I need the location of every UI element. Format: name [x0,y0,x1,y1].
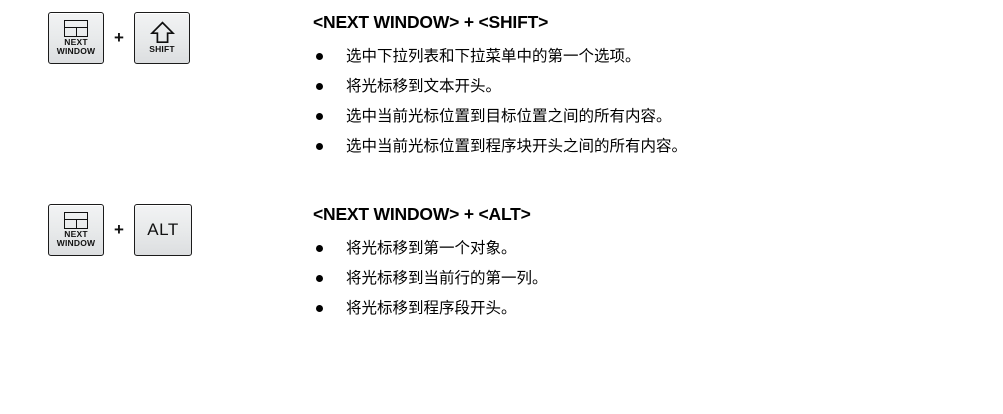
shortcut-description-shift: <NEXT WINDOW> + <SHIFT> 选中下拉列表和下拉菜单中的第一个… [313,12,978,161]
plus-separator: + [104,204,134,256]
shortcut-block-shift: NEXT WINDOW + SHIFT <NEXT WINDOW> + <SHI… [48,12,978,161]
alt-key[interactable]: ALT [134,204,192,256]
list-item-text: 选中当前光标位置到目标位置之间的所有内容。 [346,107,672,125]
list-item: 选中下拉列表和下拉菜单中的第一个选项。 [313,41,978,71]
shift-key-label: SHIFT [149,45,175,55]
list-item-text: 选中当前光标位置到程序块开头之间的所有内容。 [346,137,687,155]
list-item: 将光标移到第一个对象。 [313,233,978,263]
bullet-icon [316,83,323,90]
shift-key[interactable]: SHIFT [134,12,190,64]
list-item-text: 将光标移到第一个对象。 [346,239,517,257]
list-item: 将光标移到当前行的第一列。 [313,263,978,293]
shortcut-heading-shift: <NEXT WINDOW> + <SHIFT> [313,12,978,32]
list-item-text: 将光标移到文本开头。 [346,77,501,95]
list-item-text: 选中下拉列表和下拉菜单中的第一个选项。 [346,47,641,65]
shift-up-arrow-icon [150,21,175,44]
next-window-key[interactable]: NEXT WINDOW [48,12,104,64]
bullet-icon [316,305,323,312]
next-window-key-label-line2: WINDOW [57,239,96,249]
bullet-icon [316,53,323,60]
list-item: 选中当前光标位置到目标位置之间的所有内容。 [313,101,978,131]
bullet-icon [316,275,323,282]
bullet-icon [316,143,323,150]
list-item: 将光标移到程序段开头。 [313,293,978,323]
next-window-icon [64,20,88,37]
shortcut-block-alt: NEXT WINDOW + ALT <NEXT WINDOW> + <ALT> … [48,204,978,323]
plus-separator: + [104,12,134,64]
list-item: 将光标移到文本开头。 [313,71,978,101]
list-item-text: 将光标移到程序段开头。 [346,299,517,317]
next-window-key[interactable]: NEXT WINDOW [48,204,104,256]
shortcut-action-list-shift: 选中下拉列表和下拉菜单中的第一个选项。 将光标移到文本开头。 选中当前光标位置到… [313,41,978,161]
bullet-icon [316,113,323,120]
list-item: 选中当前光标位置到程序块开头之间的所有内容。 [313,131,978,161]
next-window-icon [64,212,88,229]
shortcut-description-alt: <NEXT WINDOW> + <ALT> 将光标移到第一个对象。 将光标移到当… [313,204,978,323]
key-combo-alt: NEXT WINDOW + ALT [48,204,313,256]
shortcut-heading-alt: <NEXT WINDOW> + <ALT> [313,204,978,224]
next-window-key-label-line2: WINDOW [57,47,96,57]
shortcut-action-list-alt: 将光标移到第一个对象。 将光标移到当前行的第一列。 将光标移到程序段开头。 [313,233,978,323]
bullet-icon [316,245,323,252]
key-combo-shift: NEXT WINDOW + SHIFT [48,12,313,64]
alt-key-label: ALT [147,220,178,240]
list-item-text: 将光标移到当前行的第一列。 [346,269,548,287]
